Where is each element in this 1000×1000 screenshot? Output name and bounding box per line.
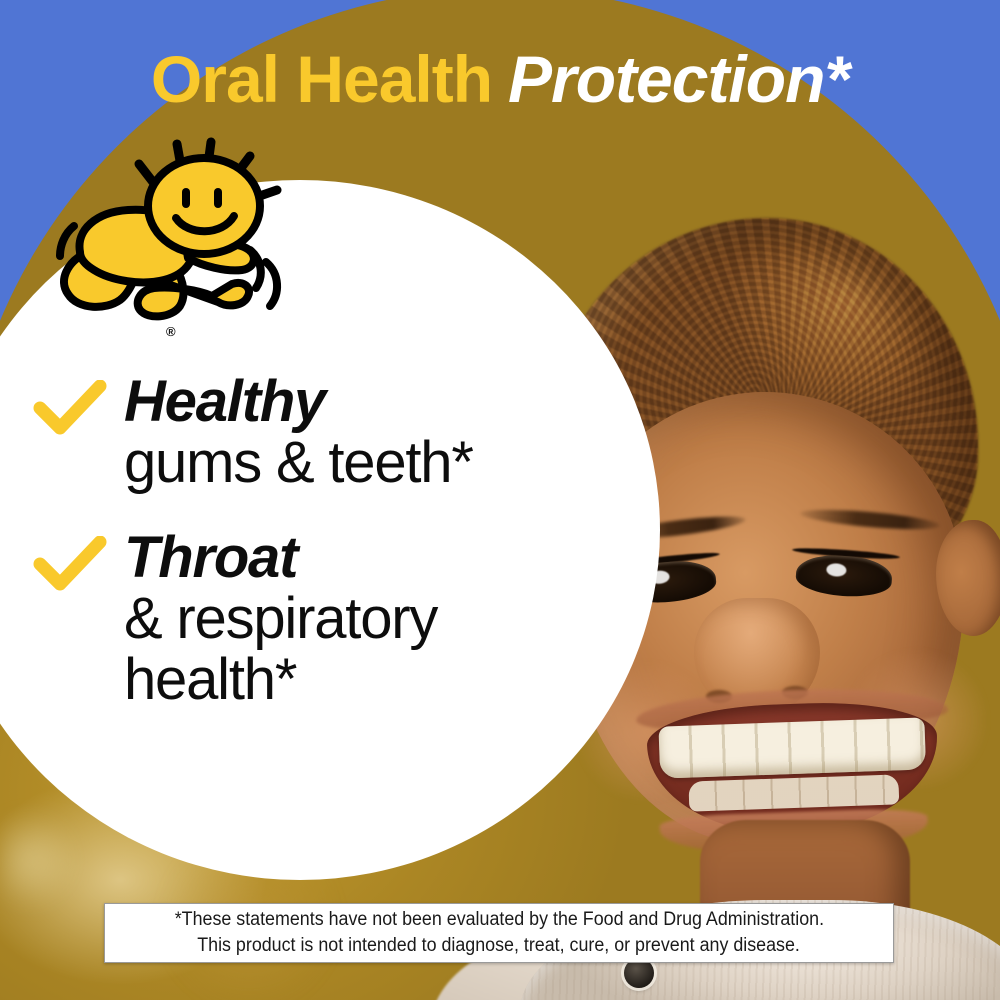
title-secondary: Protection* [508,42,849,116]
benefit-item-1: Healthy gums & teeth* [28,372,568,494]
title-primary: Oral Health [151,42,492,116]
toddler-upper-teeth [658,717,926,778]
crawling-baby-logo: ® [36,134,296,349]
benefit-rest-1: gums & teeth* [124,433,568,494]
benefit-text-2: Throat & respiratory health* [124,528,568,711]
toddler-lower-teeth [688,774,899,811]
benefit-item-2: Throat & respiratory health* [28,528,568,711]
benefit-lead-1: Healthy [124,372,568,433]
product-benefit-graphic: Oral HealthProtection* [0,0,1000,1000]
benefit-rest-2: & respiratory health* [124,589,568,711]
page-title: Oral HealthProtection* [0,46,1000,112]
disclaimer-line-2: This product is not intended to diagnose… [198,933,801,959]
checkmark-icon [32,536,108,594]
disclaimer-line-1: *These statements have not been evaluate… [174,907,823,933]
checkmark-icon [32,380,108,438]
registered-trademark-icon: ® [166,324,176,339]
benefit-text-1: Healthy gums & teeth* [124,372,568,494]
benefit-lead-2: Throat [124,528,568,589]
fda-disclaimer-box: *These statements have not been evaluate… [104,903,894,963]
benefits-list: Healthy gums & teeth* Throat & respirato… [28,372,568,744]
